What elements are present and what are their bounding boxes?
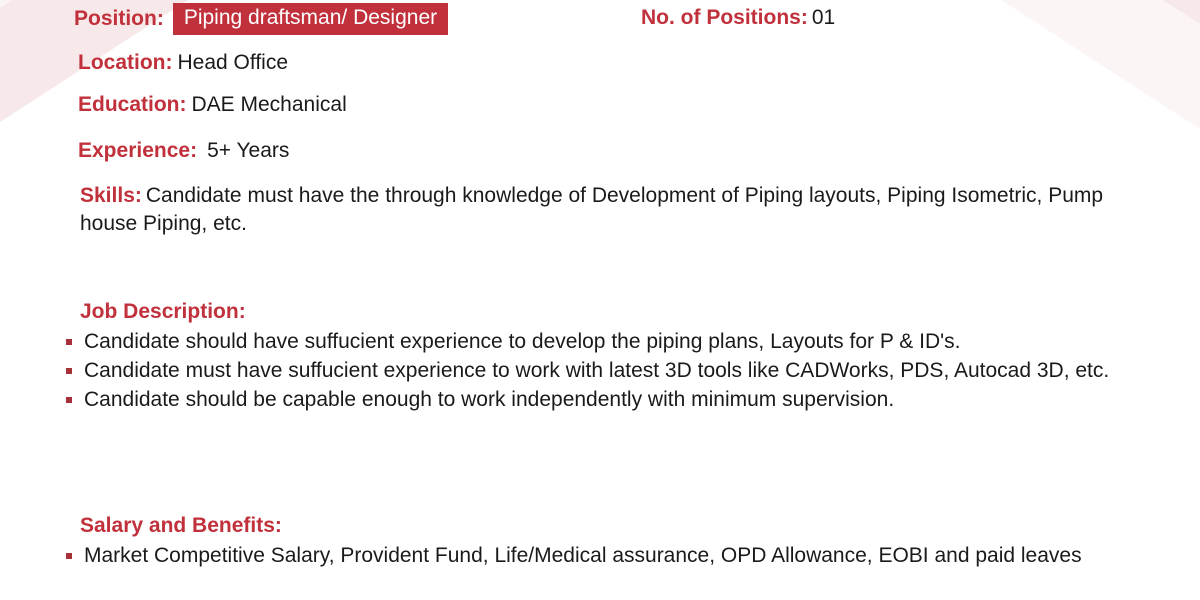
openings-value: 01	[812, 6, 835, 29]
position-value-badge: Piping draftsman/ Designer	[173, 3, 448, 35]
salary-benefits-bullets: Market Competitive Salary, Provident Fun…	[62, 542, 1192, 570]
field-education: Education:DAE Mechanical	[78, 92, 347, 117]
watermark-band	[830, 0, 1200, 349]
watermark-band	[622, 0, 1200, 315]
skills-value: Candidate must have the through knowledg…	[80, 184, 1103, 235]
job-description-list: Candidate should have suffucient experie…	[62, 328, 1192, 415]
education-label: Education:	[78, 93, 187, 116]
field-position: Position: Piping draftsman/ Designer	[74, 3, 448, 35]
location-value: Head Office	[178, 51, 289, 74]
job-description-bullets: Candidate should have suffucient experie…	[62, 328, 1192, 414]
list-item: Candidate should be capable enough to wo…	[62, 386, 1192, 414]
job-description-heading: Job Description:	[80, 300, 246, 324]
openings-label: No. of Positions:	[641, 6, 808, 29]
list-item: Candidate must have suffucient experienc…	[62, 357, 1192, 385]
education-value: DAE Mechanical	[192, 93, 347, 116]
watermark-band	[719, 0, 1200, 295]
location-label: Location:	[78, 51, 173, 74]
watermark-band	[934, 0, 1200, 308]
salary-benefits-heading: Salary and Benefits:	[80, 514, 282, 538]
list-item: Market Competitive Salary, Provident Fun…	[62, 542, 1192, 570]
experience-value: 5+ Years	[207, 139, 289, 162]
salary-benefits-list: Market Competitive Salary, Provident Fun…	[62, 542, 1192, 571]
list-item: Candidate should have suffucient experie…	[62, 328, 1192, 356]
field-skills: Skills:Candidate must have the through k…	[80, 182, 1140, 238]
watermark-band	[1022, 0, 1200, 352]
experience-label: Experience:	[78, 139, 197, 162]
skills-label: Skills:	[80, 184, 142, 207]
position-label: Position:	[74, 6, 164, 31]
job-posting-page: Position: Piping draftsman/ Designer No.…	[0, 0, 1200, 600]
field-number-of-positions: No. of Positions:01	[641, 5, 835, 30]
field-experience: Experience:5+ Years	[78, 138, 289, 163]
field-location: Location:Head Office	[78, 50, 288, 75]
